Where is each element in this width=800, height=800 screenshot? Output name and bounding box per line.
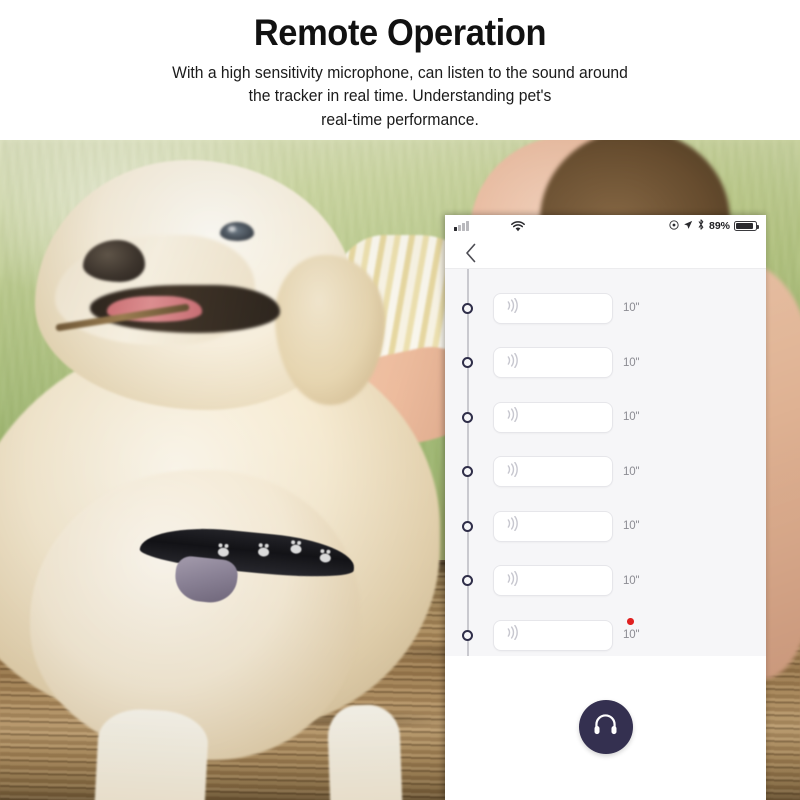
recording-bubble[interactable] [493,456,613,487]
wifi-icon [511,221,525,232]
paw-print-icon [319,553,331,563]
dog-front-leg-left [90,707,209,800]
sound-wave-icon [505,625,522,645]
timeline-dot-icon [462,521,473,532]
timeline-dot-icon [462,466,473,477]
header-section: Remote Operation With a high sensitivity… [0,0,800,140]
recording-duration-label: 10'' [623,629,639,641]
dog-nose [83,240,145,282]
cellular-signal-icon [454,222,469,231]
paw-print-icon [290,544,302,554]
timeline-dot-icon [462,412,473,423]
dog-eye [220,222,254,241]
bottom-action-area [445,656,766,800]
recording-row[interactable]: 10'' [445,554,766,609]
timeline-dot-icon [462,303,473,314]
recording-row[interactable]: 10'' [445,336,766,391]
sound-wave-icon [505,516,522,536]
paw-print-icon [258,547,270,557]
sound-wave-icon [505,462,522,482]
recording-duration-label: 10'' [623,302,639,314]
recording-bubble[interactable] [493,565,613,596]
headphones-icon [592,711,619,743]
battery-percent-label: 89% [709,220,730,232]
recording-bubble[interactable] [493,511,613,542]
recording-row[interactable]: 10'' [445,499,766,554]
sound-wave-icon [505,353,522,373]
timeline-dot-icon [462,575,473,586]
subtitle-line-1: With a high sensitivity microphone, can … [20,62,780,85]
page-title: Remote Operation [28,14,772,53]
battery-icon [734,221,757,232]
page-subtitle: With a high sensitivity microphone, can … [20,62,780,132]
recording-bubble[interactable] [493,402,613,433]
location-arrow-icon [683,220,693,233]
dog-front-leg-right [327,704,405,800]
unread-dot-badge [627,618,634,625]
subtitle-line-3: real-time performance. [20,109,780,132]
recordings-list: 10''10''10''10''10''10''10'' [445,269,766,656]
bluetooth-icon [697,219,705,233]
recordings-list-area[interactable]: 10''10''10''10''10''10''10'' [445,269,766,656]
recording-bubble[interactable] [493,347,613,378]
phone-app-screenshot: 89% 10''10''10''10''10''10''10'' [445,215,766,800]
status-bar: 89% [445,215,766,237]
recording-bubble[interactable] [493,620,613,651]
recording-duration-label: 10'' [623,466,639,478]
recording-duration-label: 10'' [623,357,639,369]
timeline-dot-icon [462,630,473,641]
timeline-dot-icon [462,357,473,368]
recording-duration-label: 10'' [623,520,639,532]
listen-button[interactable] [579,700,633,754]
back-chevron-icon[interactable] [460,242,482,264]
recording-bubble[interactable] [493,293,613,324]
alarm-clock-icon [669,220,679,233]
paw-print-icon [217,547,229,557]
sound-wave-icon [505,298,522,318]
recording-row[interactable]: 10'' [445,608,766,656]
subtitle-line-2: the tracker in real time. Understanding … [20,85,780,108]
sound-wave-icon [505,571,522,591]
recording-duration-label: 10'' [623,411,639,423]
status-bar-right: 89% [669,219,757,233]
recording-row[interactable]: 10'' [445,445,766,500]
product-infographic-page: Remote Operation With a high sensitivity… [0,0,800,800]
nav-bar [445,237,766,269]
dog-chest [30,470,360,760]
recording-duration-label: 10'' [623,575,639,587]
recording-row[interactable]: 10'' [445,281,766,336]
sound-wave-icon [505,407,522,427]
recording-row[interactable]: 10'' [445,390,766,445]
